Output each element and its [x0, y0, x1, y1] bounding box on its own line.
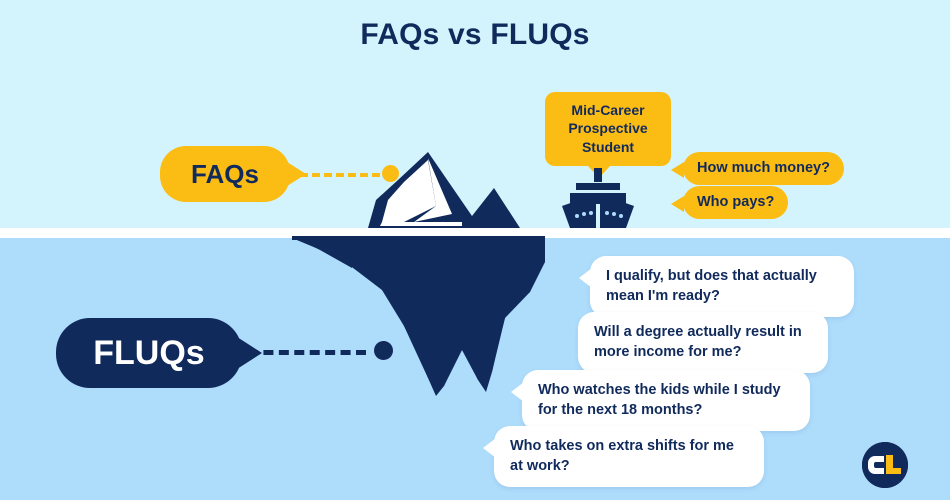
fluq-question-line-2: more income for me? [594, 342, 812, 362]
faqs-connector-line [300, 173, 380, 177]
fluq-question-line-1: Who watches the kids while I study [538, 380, 794, 400]
faqs-connector-dot [382, 165, 399, 182]
fluq-question-bubble: Who watches the kids while I study for t… [522, 370, 810, 431]
ship-icon [550, 168, 646, 230]
fluq-question-line-2: mean I'm ready? [606, 286, 838, 306]
fluq-question-line-1: Who takes on extra shifts for me [510, 436, 748, 456]
bubble-tail [671, 162, 684, 178]
fluq-question-bubble: Who takes on extra shifts for me at work… [494, 426, 764, 487]
cl-logo-icon [862, 442, 908, 488]
faqs-label-text: FAQs [191, 159, 259, 190]
fluqs-connector-line [248, 350, 366, 355]
fluq-question-line-1: Will a degree actually result in [594, 322, 812, 342]
fluqs-label-text: FLUQs [93, 334, 204, 373]
bubble-tail [511, 382, 524, 402]
faq-question-bubble: How much money? [683, 152, 844, 185]
fluqs-connector-dot [374, 341, 393, 360]
persona-line-1: Mid-Career [553, 101, 663, 119]
fluq-question-line-1: I qualify, but does that actually [606, 266, 838, 286]
fluq-question-bubble: Will a degree actually result in more in… [578, 312, 828, 373]
faq-question-text: How much money? [697, 160, 830, 176]
fluqs-label: FLUQs [56, 318, 242, 388]
persona-line-2: Prospective [553, 119, 663, 137]
waterline-band [0, 228, 950, 238]
page-title: FAQs vs FLUQs [0, 18, 950, 52]
fluq-question-line-2: for the next 18 months? [538, 400, 794, 420]
persona-callout: Mid-Career Prospective Student [545, 92, 671, 166]
faq-question-bubble: Who pays? [683, 186, 788, 219]
infographic-canvas: FAQs vs FLUQs FAQs FLUQs Mid-Career Pros… [0, 0, 950, 500]
bubble-tail [579, 268, 592, 288]
faqs-label: FAQs [160, 146, 290, 202]
bubble-tail [483, 438, 496, 458]
fluq-question-bubble: I qualify, but does that actually mean I… [590, 256, 854, 317]
persona-line-3: Student [553, 138, 663, 156]
fluq-question-line-2: at work? [510, 456, 748, 476]
bubble-tail [671, 196, 684, 212]
faq-question-text: Who pays? [697, 194, 774, 210]
